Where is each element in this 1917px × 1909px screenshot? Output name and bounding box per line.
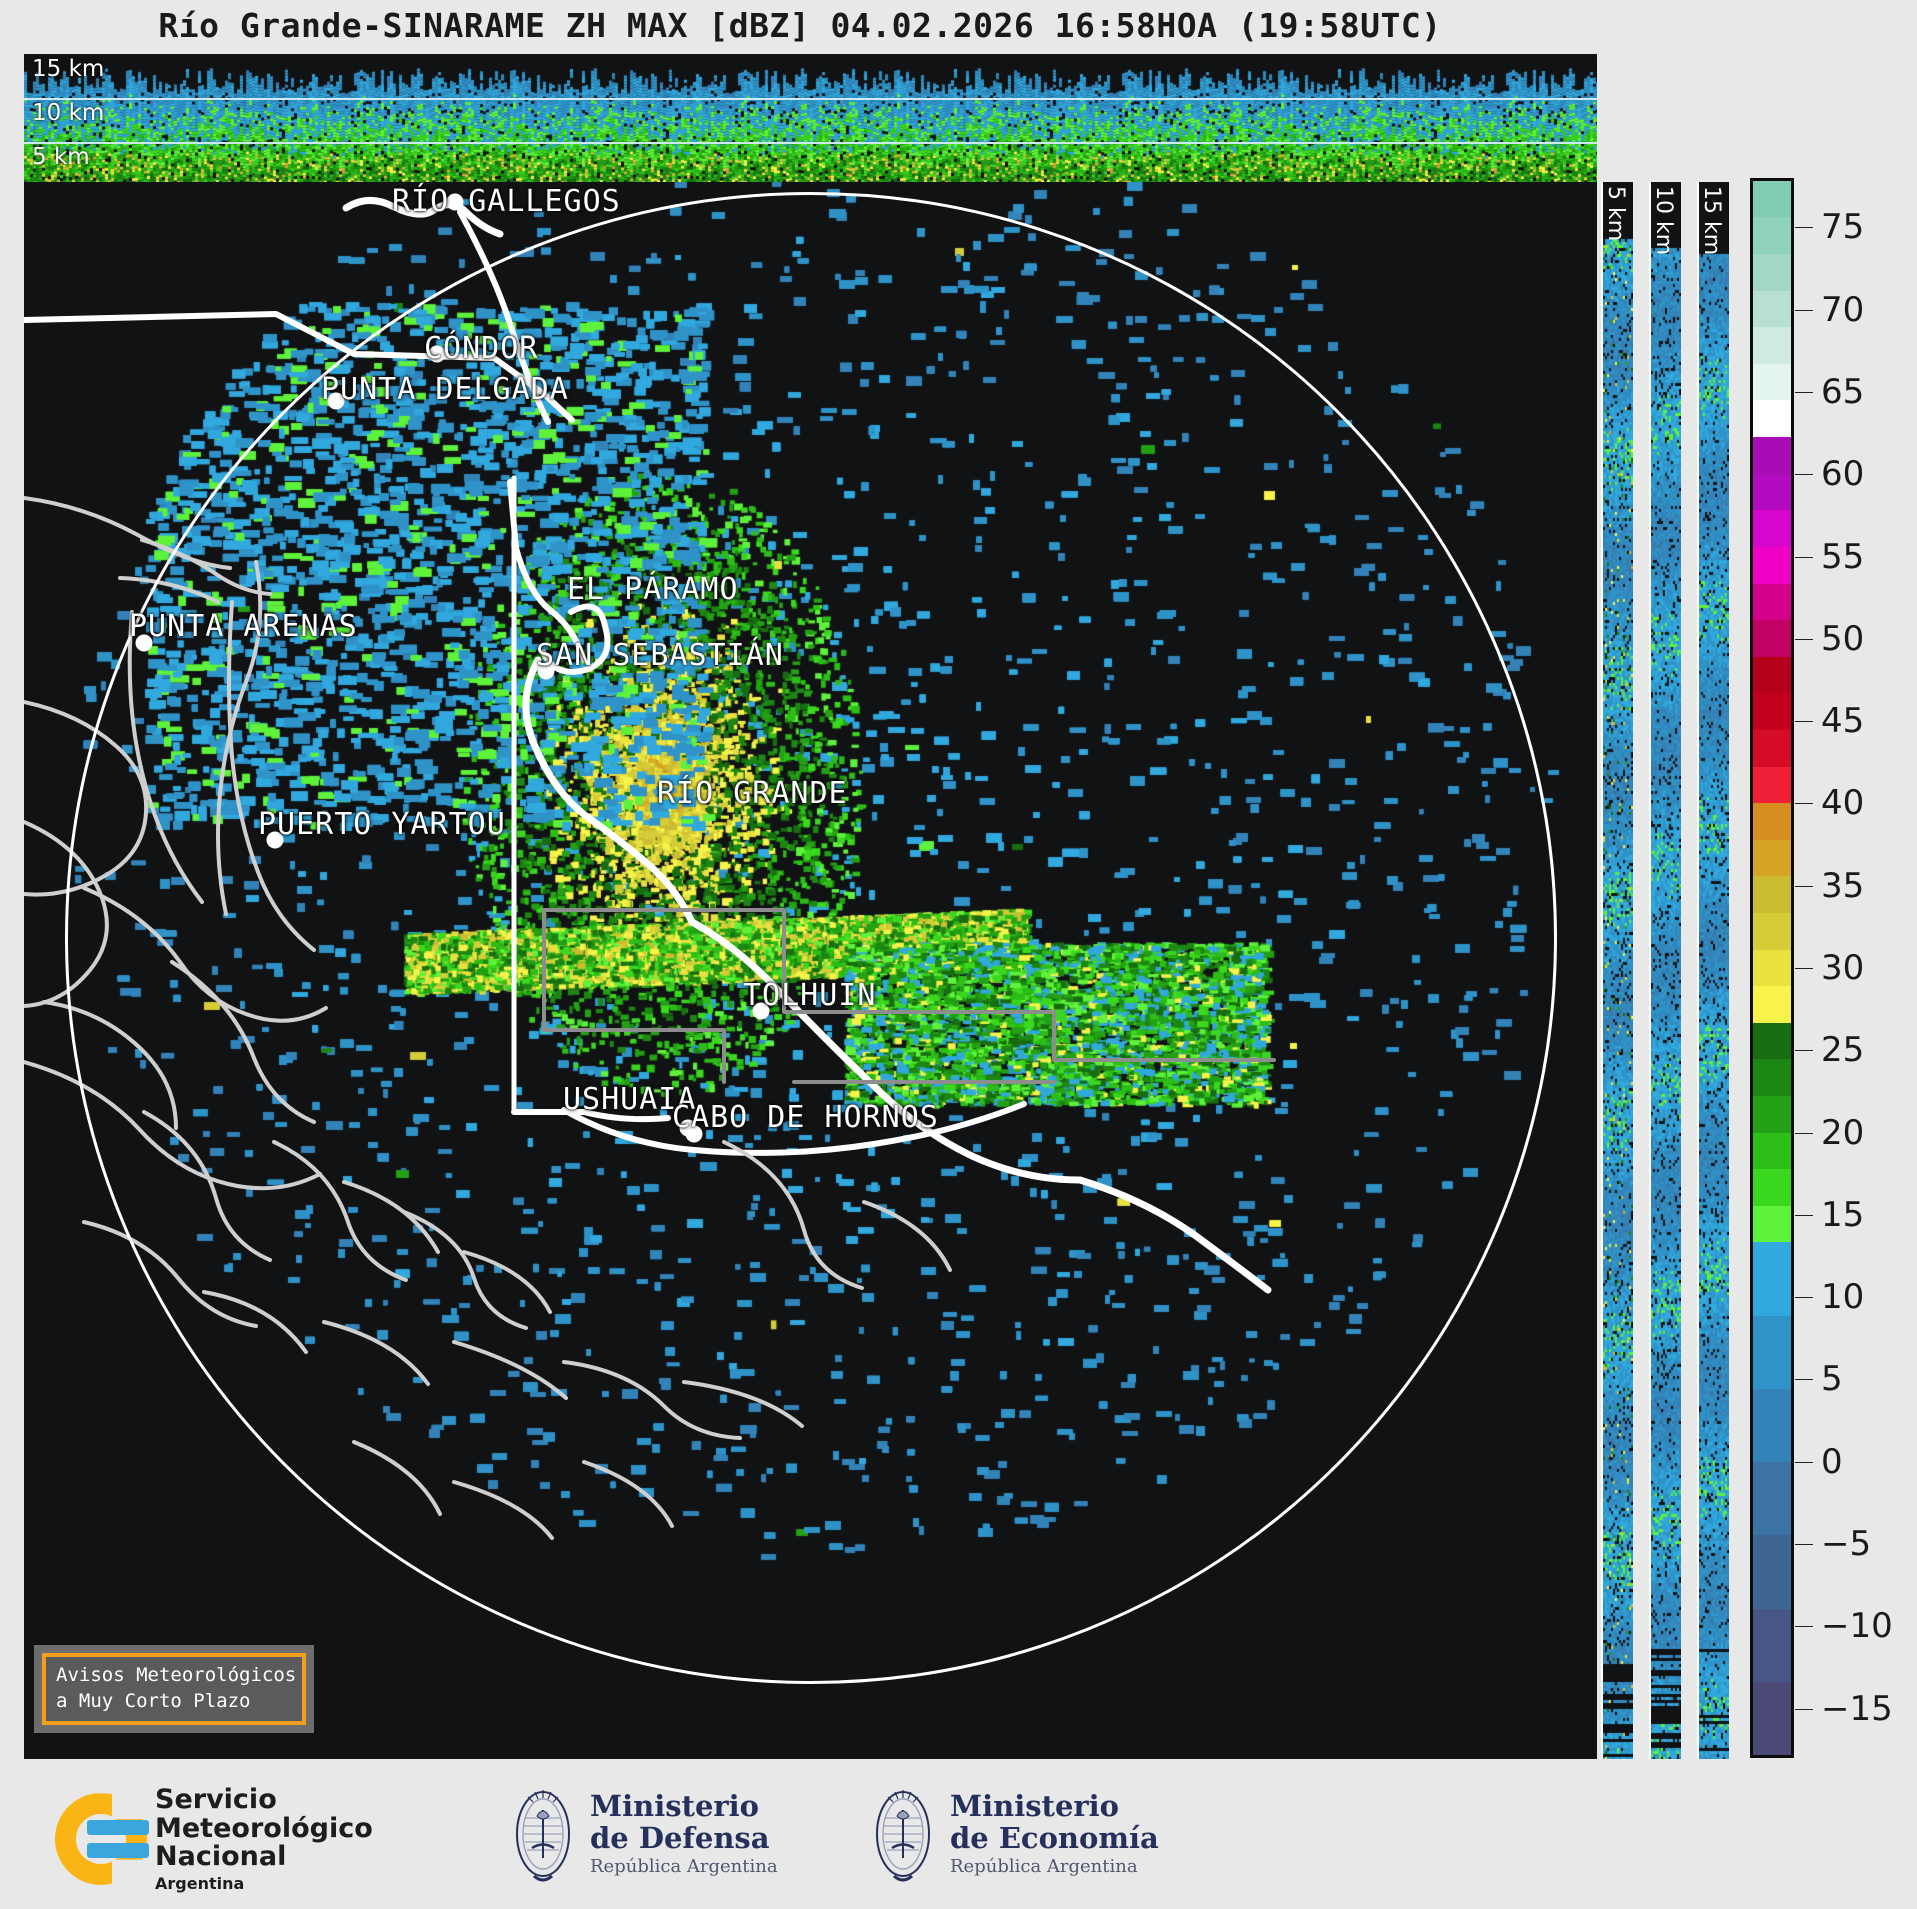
colorbar-segment-8 (1753, 1426, 1791, 1463)
colorbar-tick (1795, 1297, 1813, 1298)
colorbar-tick-label-25: 25 (1821, 1030, 1864, 1070)
colorbar-tick (1795, 639, 1813, 640)
logo-ministerio-economia: Ministerio de Economía República Argenti… (868, 1782, 1159, 1886)
smn-line-2: Meteorológico (155, 1815, 373, 1844)
colorbar-segment-11 (1753, 1316, 1791, 1353)
colorbar-segment-1 (1753, 1682, 1791, 1719)
colorbar-segment-35 (1753, 437, 1791, 474)
colorbar-segment-39 (1753, 291, 1791, 328)
smn-mark-icon (55, 1793, 147, 1885)
colorbar-tick (1795, 1626, 1813, 1627)
xsec-label-10km: 10 km (32, 100, 104, 126)
colorbar-tick-label-75: 75 (1821, 207, 1864, 247)
colorbar-segment-17 (1753, 1096, 1791, 1133)
colorbar-tick-label--10: −10 (1821, 1606, 1893, 1646)
colorbar-tick-label-60: 60 (1821, 454, 1864, 494)
colorbar-tick (1795, 1544, 1813, 1545)
colorbar-segment-13 (1753, 1242, 1791, 1279)
colorbar-tick (1795, 1462, 1813, 1463)
colorbar-tick (1795, 474, 1813, 475)
colorbar-segment-16 (1753, 1133, 1791, 1170)
colorbar-tick-label-0: 0 (1821, 1442, 1843, 1482)
colorbar-tick-label--15: −15 (1821, 1689, 1893, 1729)
vpanel-label-10km: 10 km (1651, 186, 1676, 255)
gridline-10km (24, 142, 1597, 144)
colorbar-segment-14 (1753, 1206, 1791, 1243)
colorbar-segment-26 (1753, 767, 1791, 804)
argentina-coat-of-arms-icon (868, 1782, 938, 1886)
dbz-colorbar (1750, 178, 1794, 1758)
colorbar-segment-2 (1753, 1645, 1791, 1682)
city-label-r-o-gallegos: RÍO GALLEGOS (392, 184, 621, 219)
colorbar-segment-28 (1753, 693, 1791, 730)
economia-line-2: de Economía (950, 1823, 1159, 1855)
colorbar-tick-label-30: 30 (1821, 948, 1864, 988)
city-label-r-o-grande: RÍO GRANDE (657, 776, 848, 811)
economia-line-1: Ministerio (950, 1791, 1159, 1823)
colorbar-tick-label-5: 5 (1821, 1359, 1843, 1399)
colorbar-segment-37 (1753, 364, 1791, 401)
defensa-line-2: de Defensa (590, 1823, 778, 1855)
colorbar-tick-label-70: 70 (1821, 290, 1864, 330)
radar-ppi-panel[interactable]: RÍO GALLEGOSCÓNDORPUNTA DELGADAEL PÁRAMO… (24, 182, 1597, 1759)
warning-badge[interactable]: Avisos Meteorológicos a Muy Corto Plazo (34, 1645, 314, 1733)
footer: Servicio Meteorológico Nacional Argentin… (0, 1768, 1917, 1909)
colorbar-segment-42 (1753, 181, 1791, 218)
colorbar-segment-23 (1753, 876, 1791, 913)
colorbar-tick-label-20: 20 (1821, 1113, 1864, 1153)
city-label-c-ndor: CÓNDOR (424, 331, 538, 366)
colorbar-tick (1795, 227, 1813, 228)
colorbar-segment-40 (1753, 254, 1791, 291)
colorbar-tick (1795, 1050, 1813, 1051)
defensa-line-1: Ministerio (590, 1791, 778, 1823)
colorbar-segment-41 (1753, 217, 1791, 254)
dbz-colorbar-ticks: 757065605550454035302520151050−5−10−15 (1795, 178, 1915, 1758)
colorbar-tick (1795, 803, 1813, 804)
colorbar-segment-38 (1753, 327, 1791, 364)
smn-line-3: Nacional (155, 1843, 373, 1872)
city-label-puerto-yartou: PUERTO YARTOU (258, 807, 506, 842)
colorbar-tick (1795, 557, 1813, 558)
colorbar-segment-18 (1753, 1059, 1791, 1096)
vpanel-label-5km: 5 km (1603, 186, 1628, 241)
colorbar-segment-20 (1753, 986, 1791, 1023)
vertical-max-panel-10km: 10 km (1649, 182, 1681, 1759)
colorbar-segment-19 (1753, 1023, 1791, 1060)
colorbar-segment-7 (1753, 1462, 1791, 1499)
city-label-el-p-ramo: EL PÁRAMO (567, 572, 739, 607)
colorbar-tick-label-55: 55 (1821, 537, 1864, 577)
colorbar-tick-label-15: 15 (1821, 1195, 1864, 1235)
vpanel-label-15km: 15 km (1699, 186, 1724, 255)
colorbar-tick-label-45: 45 (1821, 701, 1864, 741)
colorbar-tick (1795, 310, 1813, 311)
colorbar-segment-24 (1753, 840, 1791, 877)
xsec-label-5km: 5 km (32, 144, 90, 170)
colorbar-segment-21 (1753, 950, 1791, 987)
colorbar-segment-25 (1753, 803, 1791, 840)
smn-sub: Argentina (155, 1874, 373, 1893)
range-ring (65, 192, 1557, 1684)
colorbar-tick-label-35: 35 (1821, 866, 1864, 906)
smn-line-1: Servicio (155, 1786, 373, 1815)
city-label-punta-delgada: PUNTA DELGADA (321, 372, 569, 407)
colorbar-segment-27 (1753, 730, 1791, 767)
colorbar-tick-label-40: 40 (1821, 783, 1864, 823)
colorbar-tick (1795, 886, 1813, 887)
page-title: Río Grande-SINARAME ZH MAX [dBZ] 04.02.2… (0, 6, 1600, 45)
colorbar-tick (1795, 721, 1813, 722)
colorbar-segment-9 (1753, 1389, 1791, 1426)
colorbar-segment-15 (1753, 1169, 1791, 1206)
colorbar-tick (1795, 392, 1813, 393)
colorbar-tick-label-65: 65 (1821, 372, 1864, 412)
economia-sub: República Argentina (950, 1856, 1159, 1877)
colorbar-segment-31 (1753, 584, 1791, 621)
top-cross-section-panel: 15 km 10 km 5 km (24, 54, 1597, 182)
colorbar-segment-12 (1753, 1279, 1791, 1316)
colorbar-segment-22 (1753, 913, 1791, 950)
logo-smn: Servicio Meteorológico Nacional Argentin… (55, 1786, 373, 1893)
colorbar-segment-33 (1753, 510, 1791, 547)
colorbar-tick (1795, 1215, 1813, 1216)
vertical-max-panel-5km: 5 km (1601, 182, 1633, 1759)
colorbar-tick-label-10: 10 (1821, 1277, 1864, 1317)
colorbar-segment-32 (1753, 547, 1791, 584)
city-label-tolhuin: TOLHUIN (743, 978, 876, 1013)
warning-badge-inner: Avisos Meteorológicos a Muy Corto Plazo (42, 1653, 306, 1725)
warning-line-2: a Muy Corto Plazo (56, 1689, 302, 1715)
colorbar-segment-6 (1753, 1499, 1791, 1536)
colorbar-segment-29 (1753, 657, 1791, 694)
colorbar-segment-36 (1753, 400, 1791, 437)
colorbar-segment-5 (1753, 1535, 1791, 1572)
vertical-max-panel-15km: 15 km (1697, 182, 1729, 1759)
city-label-san-sebasti-n: SAN SEBASTIÁN (536, 638, 784, 673)
city-label-cabo-de-hornos: CABO DE HORNOS (672, 1100, 939, 1135)
colorbar-segment-4 (1753, 1572, 1791, 1609)
city-label-punta-arenas: PUNTA ARENAS (129, 609, 358, 644)
colorbar-segment-30 (1753, 620, 1791, 657)
gridline-15km (24, 98, 1597, 100)
warning-line-1: Avisos Meteorológicos (56, 1663, 302, 1689)
colorbar-segment-0 (1753, 1718, 1791, 1755)
colorbar-tick (1795, 1709, 1813, 1710)
colorbar-tick (1795, 1379, 1813, 1380)
colorbar-tick (1795, 1133, 1813, 1134)
argentina-coat-of-arms-icon (508, 1782, 578, 1886)
colorbar-segment-10 (1753, 1352, 1791, 1389)
logo-ministerio-defensa: Ministerio de Defensa República Argentin… (508, 1782, 778, 1886)
colorbar-segment-3 (1753, 1609, 1791, 1646)
colorbar-tick-label--5: −5 (1821, 1524, 1871, 1564)
colorbar-tick-label-50: 50 (1821, 619, 1864, 659)
defensa-sub: República Argentina (590, 1856, 778, 1877)
colorbar-tick (1795, 968, 1813, 969)
xsec-label-15km: 15 km (32, 56, 104, 82)
colorbar-segment-34 (1753, 474, 1791, 511)
